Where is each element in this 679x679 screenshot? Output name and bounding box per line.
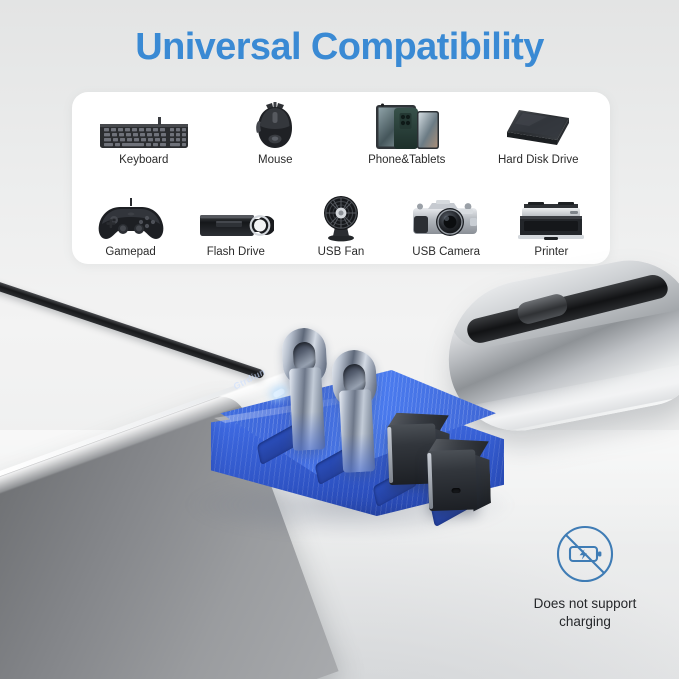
- no-charging-badge: Does not support charging: [502, 522, 668, 644]
- compatibility-row-2: Gamepad: [78, 194, 604, 258]
- page-title: Universal Compatibility: [0, 26, 679, 69]
- gamepad-icon: [96, 194, 166, 242]
- compatibility-card: Keyboard Mouse: [72, 92, 610, 264]
- compat-item-flash-drive: Flash Drive: [186, 194, 286, 258]
- flash-drive-icon: [198, 194, 274, 242]
- flash-drive-body: [339, 389, 375, 473]
- compat-label: USB Fan: [318, 246, 365, 258]
- compat-label: Flash Drive: [207, 246, 265, 258]
- flash-drive-body: [289, 367, 325, 451]
- flash-drive-1: [281, 327, 331, 449]
- mouse-icon: [252, 102, 298, 150]
- compat-label: Phone&Tablets: [368, 154, 445, 166]
- usb-fan-icon: [316, 194, 366, 242]
- compat-item-keyboard: Keyboard: [85, 102, 203, 166]
- compat-item-usb-camera: USB Camera: [396, 194, 496, 258]
- hard-disk-drive-icon: [499, 102, 577, 150]
- keyboard-icon: [98, 102, 190, 150]
- compat-item-hard-disk-drive: Hard Disk Drive: [479, 102, 597, 166]
- badge-caption: Does not support charging: [534, 595, 637, 631]
- badge-line-2: charging: [559, 614, 611, 629]
- compat-label: Printer: [534, 246, 568, 258]
- compat-label: Gamepad: [105, 246, 156, 258]
- usb-hub-product: Gtrdiun: [192, 318, 522, 548]
- badge-line-1: Does not support: [534, 596, 637, 611]
- compat-item-gamepad: Gamepad: [81, 194, 181, 258]
- usb-camera-icon: [408, 194, 484, 242]
- usb-adapter-2: [427, 437, 492, 513]
- hub-brand-logo: Gtrdiun: [232, 366, 266, 392]
- compat-item-printer: Printer: [501, 194, 601, 258]
- compat-label: USB Camera: [412, 246, 480, 258]
- adapter-indicator-slot: [451, 488, 460, 493]
- flash-drive-2: [331, 349, 381, 471]
- phone-tablet-icon: [372, 102, 442, 150]
- compat-label: Mouse: [258, 154, 293, 166]
- compatibility-row-1: Keyboard Mouse: [78, 102, 604, 166]
- compat-label: Hard Disk Drive: [498, 154, 579, 166]
- compat-item-usb-fan: USB Fan: [291, 194, 391, 258]
- compat-label: Keyboard: [119, 154, 168, 166]
- no-charging-icon: [553, 522, 617, 586]
- compat-item-mouse: Mouse: [216, 102, 334, 166]
- printer-icon: [514, 194, 588, 242]
- adapter-front-face: [427, 449, 477, 511]
- compat-item-phone-tablets: Phone&Tablets: [348, 102, 466, 166]
